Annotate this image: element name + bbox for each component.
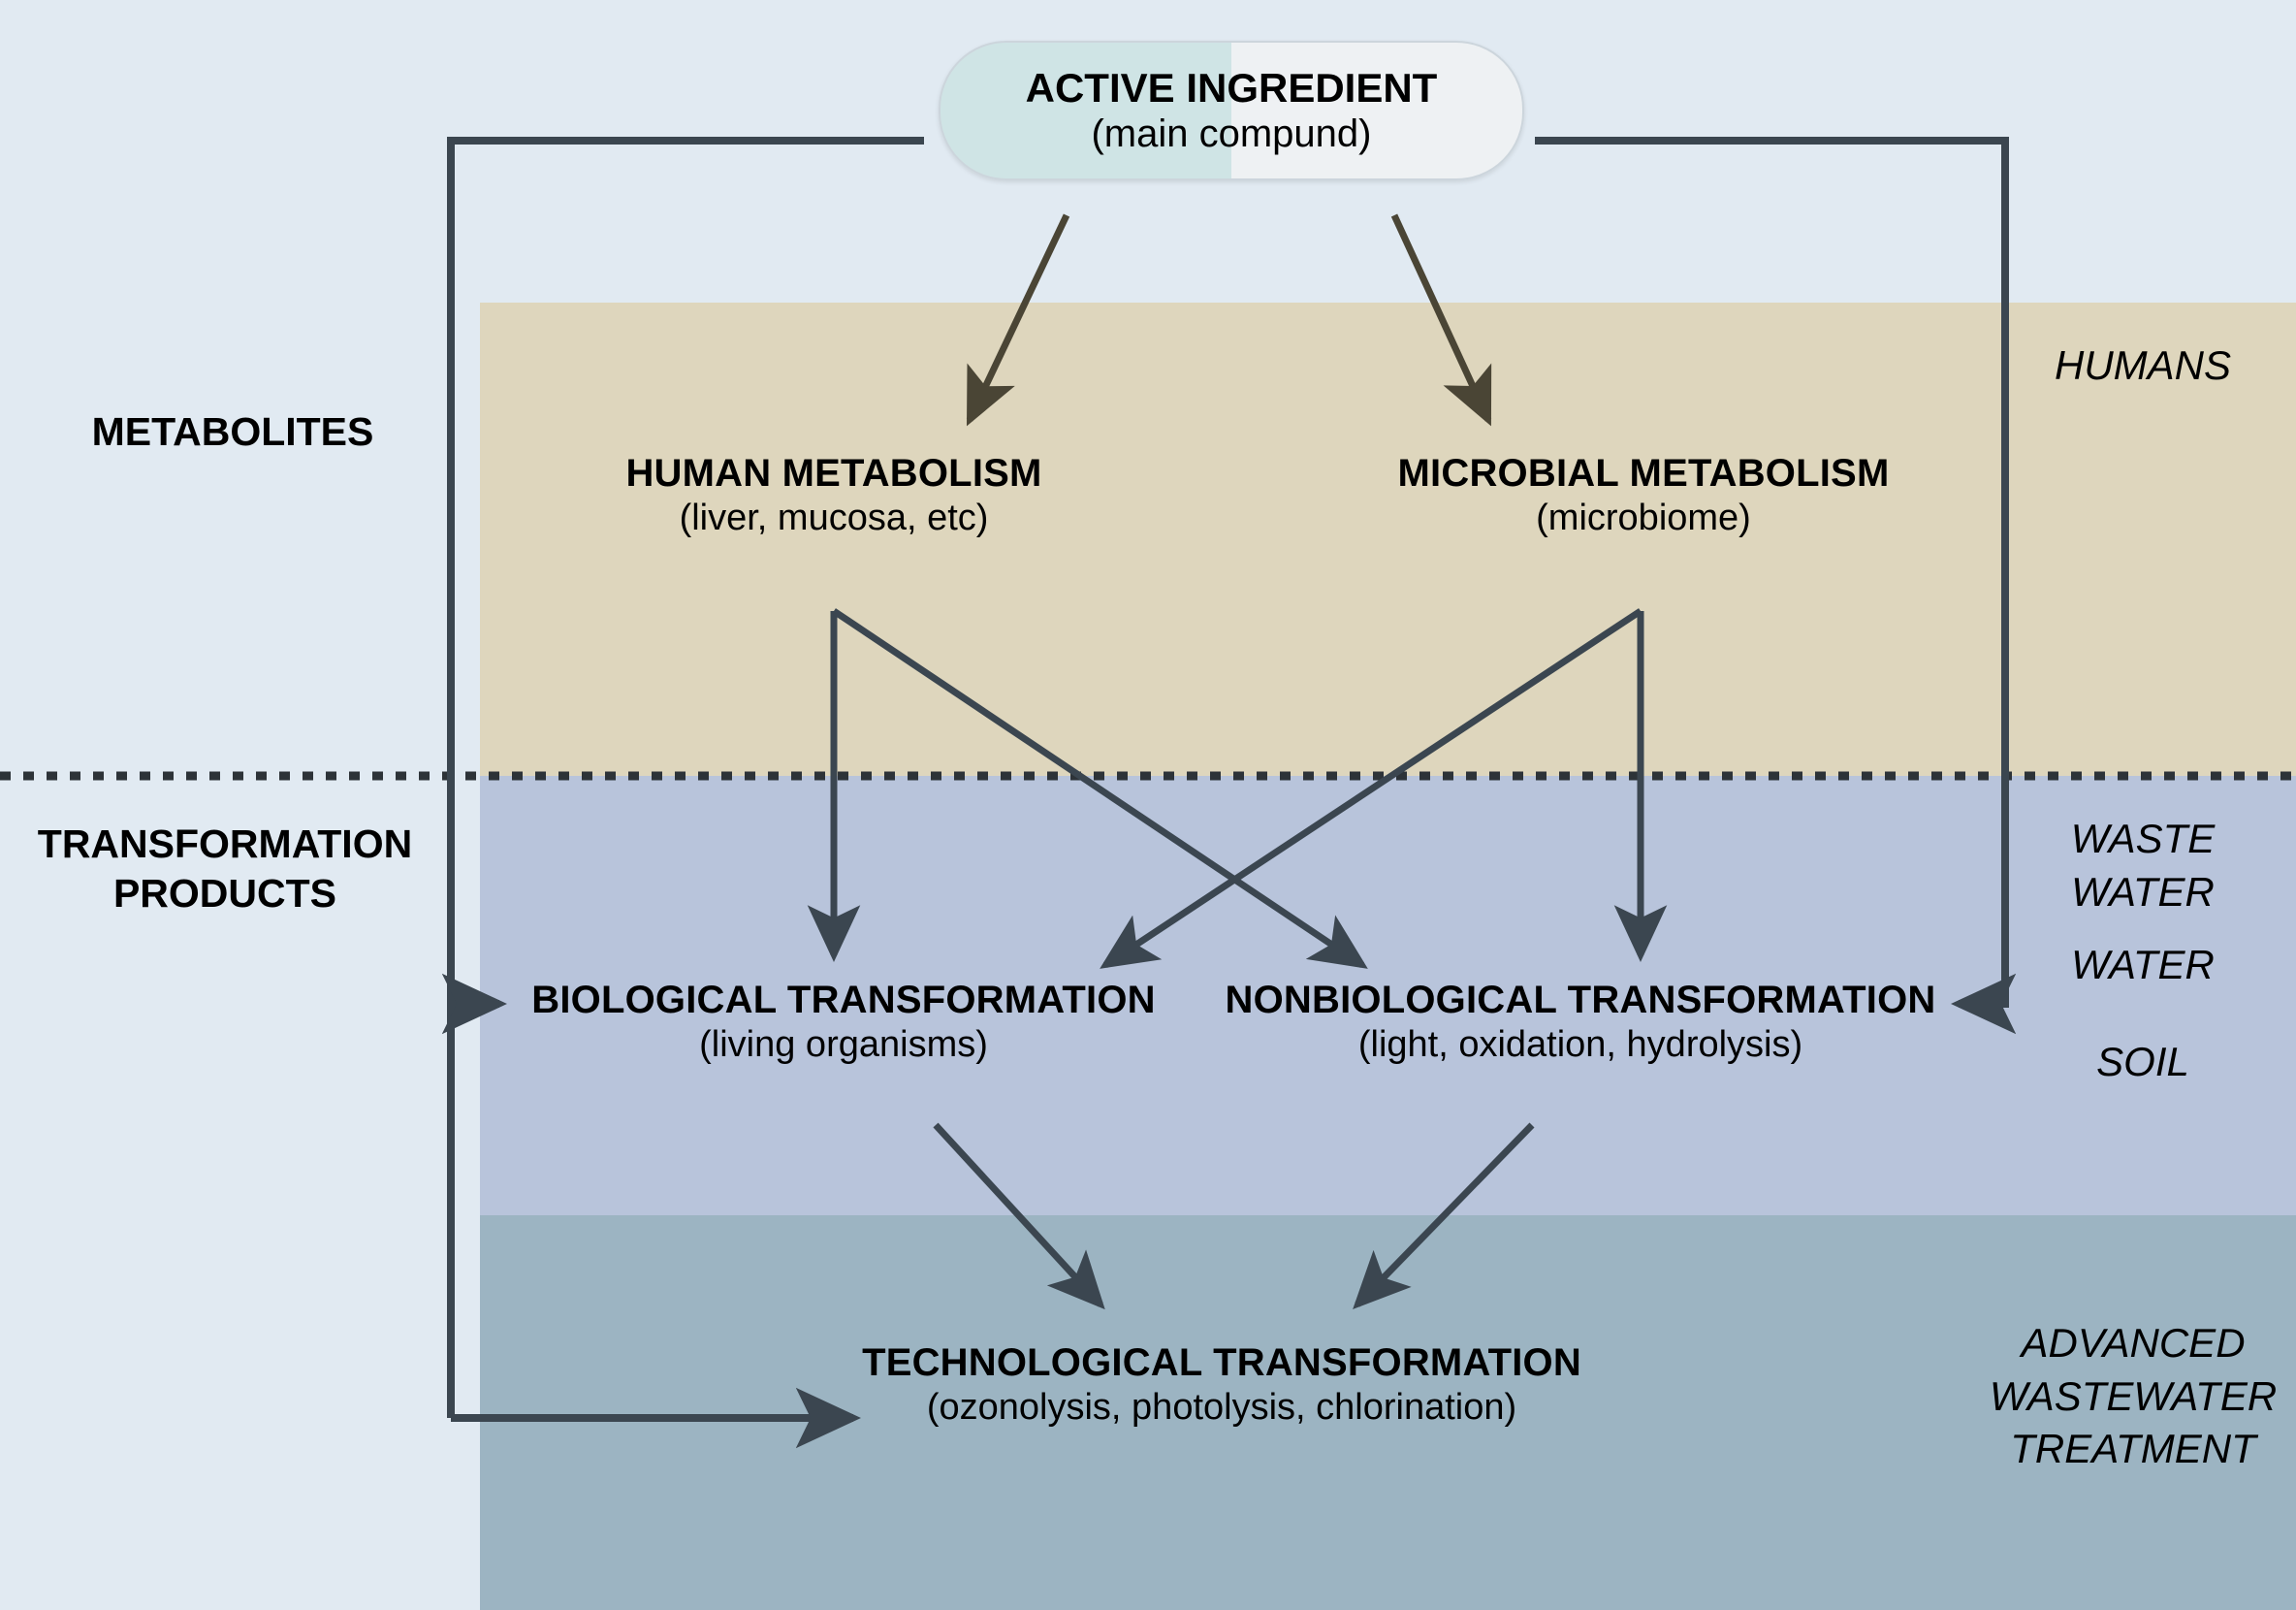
- node-biological-transformation-title: BIOLOGICAL TRANSFORMATION: [514, 978, 1173, 1023]
- node-human-metabolism-title: HUMAN METABOLISM: [543, 451, 1125, 497]
- label-transformation-products-line2: PRODUCTS: [8, 869, 442, 918]
- diagram-canvas: ACTIVE INGREDIENT (main compund) METABOL…: [0, 0, 2296, 1610]
- env-label-advanced-wastewater-treatment: ADVANCED WASTEWATER TREATMENT: [1978, 1317, 2288, 1476]
- env-label-water-1: WATER: [1997, 866, 2288, 919]
- capsule-subtitle: (main compund): [1091, 112, 1371, 157]
- node-microbial-metabolism: MICROBIAL METABOLISM (microbiome): [1328, 451, 1959, 540]
- node-microbial-metabolism-subtitle: (microbiome): [1328, 497, 1959, 540]
- node-technological-transformation-subtitle: (ozonolysis, photolysis, chlorination): [834, 1386, 1610, 1430]
- label-metabolites: METABOLITES: [39, 407, 427, 457]
- node-microbial-metabolism-title: MICROBIAL METABOLISM: [1328, 451, 1959, 497]
- node-human-metabolism: HUMAN METABOLISM (liver, mucosa, etc): [543, 451, 1125, 540]
- capsule-title: ACTIVE INGREDIENT: [1026, 64, 1438, 113]
- env-label-wastewater: WASTEWATER: [1978, 1370, 2288, 1424]
- label-transformation-products-line1: TRANSFORMATION: [8, 820, 442, 869]
- node-biological-transformation-subtitle: (living organisms): [514, 1023, 1173, 1067]
- node-human-metabolism-subtitle: (liver, mucosa, etc): [543, 497, 1125, 540]
- active-ingredient-capsule: ACTIVE INGREDIENT (main compund): [939, 41, 1524, 180]
- node-nonbiological-transformation-subtitle: (light, oxidation, hydrolysis): [1202, 1023, 1959, 1067]
- env-label-humans: HUMANS: [1997, 339, 2288, 393]
- node-nonbiological-transformation-title: NONBIOLOGICAL TRANSFORMATION: [1202, 978, 1959, 1023]
- env-label-water: WATER: [1997, 939, 2288, 992]
- env-label-waste: WASTE: [1997, 813, 2288, 866]
- node-biological-transformation: BIOLOGICAL TRANSFORMATION (living organi…: [514, 978, 1173, 1067]
- env-label-waste-water: WASTE WATER: [1997, 813, 2288, 918]
- env-label-advanced: ADVANCED: [1978, 1317, 2288, 1370]
- node-nonbiological-transformation: NONBIOLOGICAL TRANSFORMATION (light, oxi…: [1202, 978, 1959, 1067]
- env-label-soil: SOIL: [1997, 1036, 2288, 1089]
- label-transformation-products: TRANSFORMATION PRODUCTS: [8, 820, 442, 919]
- node-technological-transformation-title: TECHNOLOGICAL TRANSFORMATION: [834, 1340, 1610, 1386]
- env-label-treatment: TREATMENT: [1978, 1423, 2288, 1476]
- node-technological-transformation: TECHNOLOGICAL TRANSFORMATION (ozonolysis…: [834, 1340, 1610, 1430]
